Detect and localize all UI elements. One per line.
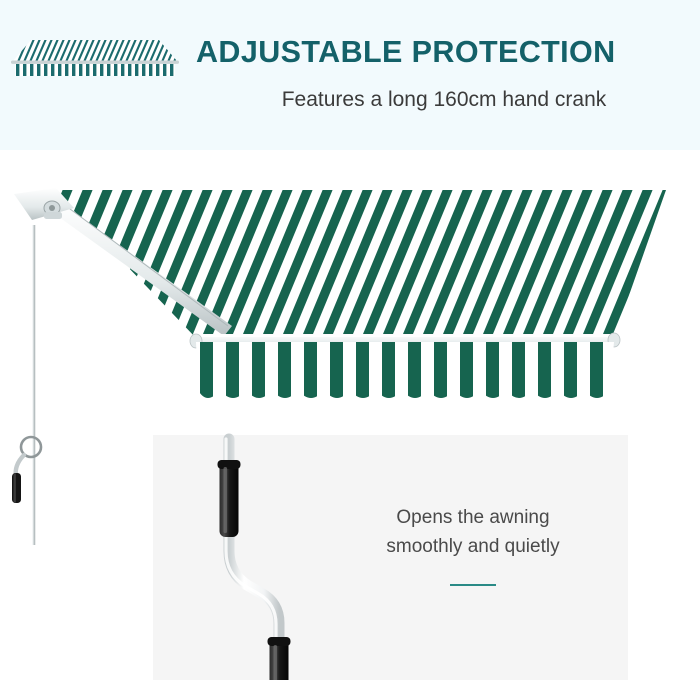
page-subtitle: Features a long 160cm hand crank (196, 86, 692, 114)
awning-valance (196, 340, 614, 410)
detail-caption: Opens the awning smoothly and quietly (348, 503, 598, 586)
detail-caption-line-2: smoothly and quietly (348, 532, 598, 561)
crank-detail-panel: Opens the awning smoothly and quietly (153, 435, 628, 680)
product-feature-image: ADJUSTABLE PROTECTION Features a long 16… (0, 0, 700, 700)
page-title: ADJUSTABLE PROTECTION (196, 33, 692, 71)
hand-crank-rod (0, 215, 160, 635)
accent-divider (450, 584, 496, 586)
detail-caption-line-1: Opens the awning (348, 503, 598, 532)
striped-awning-icon (9, 38, 181, 78)
header-banner: ADJUSTABLE PROTECTION Features a long 16… (0, 0, 700, 150)
hand-crank-closeup-image (195, 433, 315, 680)
